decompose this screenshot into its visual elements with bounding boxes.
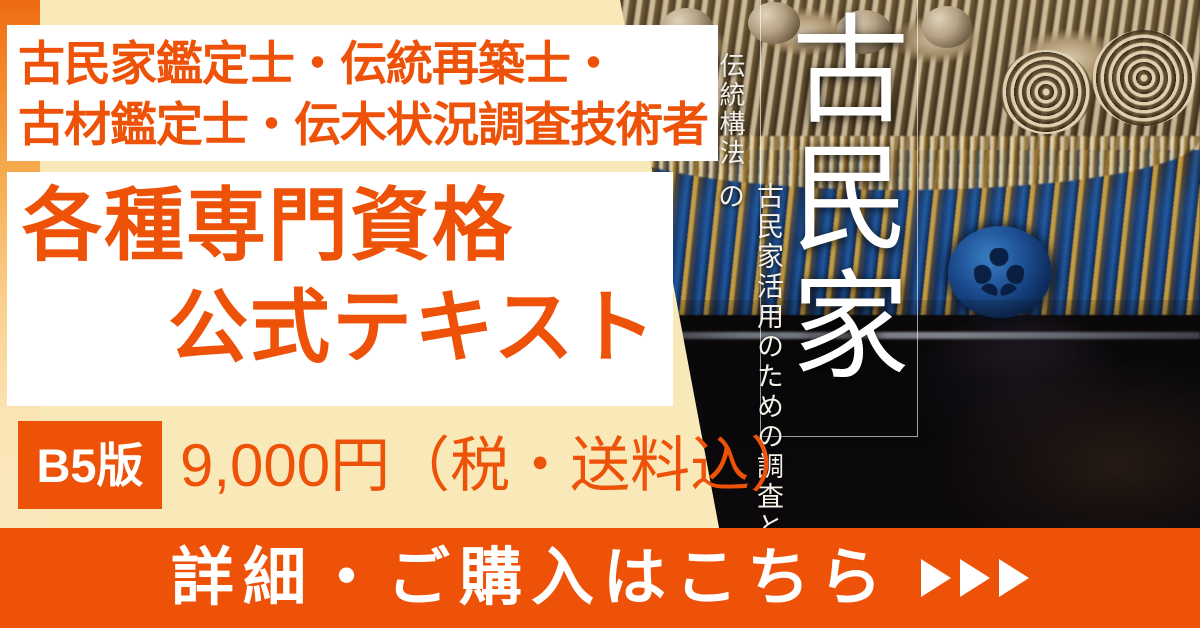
carving-spiral (1000, 50, 1092, 134)
title-line-2: 公式テキスト (168, 288, 658, 368)
triangle-right-icon (999, 559, 1029, 597)
cta-arrow-group (921, 559, 1029, 597)
price-text: 9,000円（税・送料込） (180, 430, 810, 502)
promo-banner: 古民家 伝統構法 古民家活用のための調査と再生の 古民家鑑定士・伝統再築士・ 古… (0, 0, 1200, 628)
size-badge: B5版 (18, 421, 162, 509)
triangle-right-icon (921, 559, 951, 597)
headline-text: 古民家鑑定士・伝統再築士・ 古材鑑定士・伝木状況調査技術者 (18, 34, 718, 155)
carving-spiral (1092, 30, 1196, 126)
triangle-right-icon (960, 559, 990, 597)
cover-title: 古民家 (770, 8, 910, 392)
carving-bead (922, 6, 972, 48)
cta-label: 詳細・ご購入はこちら (171, 547, 891, 610)
cta-button[interactable]: 詳細・ご購入はこちら (0, 528, 1200, 628)
title-line-1: 各種専門資格 (22, 186, 514, 266)
size-badge-label: B5版 (36, 442, 143, 489)
